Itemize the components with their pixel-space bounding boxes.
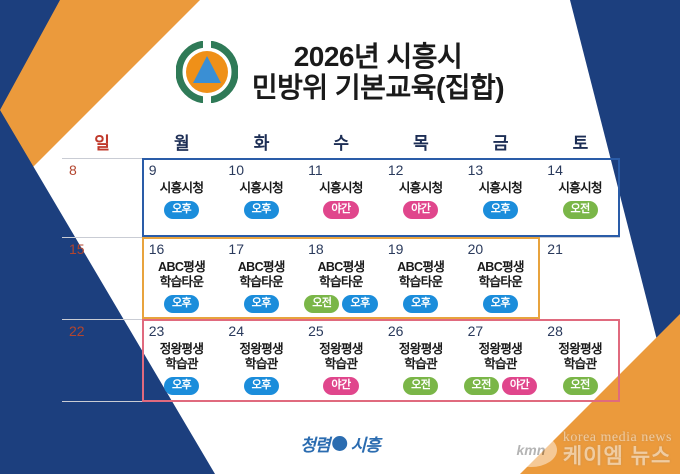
day-number: 14 — [547, 163, 563, 178]
brand-text-right: 시흥 — [351, 431, 380, 456]
day-number: 16 — [149, 242, 165, 257]
venue-label: ABC평생학습타운 — [158, 260, 205, 290]
day-number: 22 — [69, 324, 85, 339]
session-badge-pm: 오후 — [164, 295, 199, 313]
city-brand-logo: 청렴 시흥 — [300, 431, 380, 456]
calendar-week-row: 1516ABC평생학습타운오후17ABC평생학습타운오후18ABC평생학습타운오… — [62, 237, 620, 319]
day-number: 26 — [388, 324, 404, 339]
session-badge-night: 야간 — [502, 377, 537, 395]
venue-label: 시흥시청 — [558, 181, 602, 196]
poster-canvas: 2026년 시흥시 민방위 기본교육(집합) 일월화수목금토 89시흥시청오후1… — [0, 0, 680, 474]
calendar-week-row: 2223정왕평생학습관오후24정왕평생학습관오후25정왕평생학습관야간26정왕평… — [62, 319, 620, 402]
watermark-english: korea media news — [563, 431, 672, 446]
calendar-day-cell[interactable]: 27정왕평생학습관오전야간 — [461, 320, 541, 401]
education-calendar: 일월화수목금토 89시흥시청오후10시흥시청오후11시흥시청야간12시흥시청야간… — [62, 124, 620, 402]
day-number: 19 — [388, 242, 404, 257]
venue-label: 시흥시청 — [399, 181, 443, 196]
calendar-day-cell[interactable]: 25정왕평생학습관야간 — [301, 320, 381, 401]
calendar-day-cell[interactable]: 14시흥시청오전 — [540, 159, 620, 237]
session-badges: 오후 — [164, 295, 199, 313]
venue-label: ABC평생학습타운 — [317, 260, 364, 290]
calendar-day-cell[interactable]: 23정왕평생학습관오후 — [142, 320, 222, 401]
session-badges: 오후 — [483, 201, 518, 219]
calendar-day-cell[interactable]: 12시흥시청야간 — [381, 159, 461, 237]
calendar-day-cell[interactable]: 15 — [62, 238, 142, 319]
poster-header: 2026년 시흥시 민방위 기본교육(집합) — [0, 22, 680, 122]
day-of-week-3: 수 — [301, 129, 381, 154]
venue-label: 정왕평생학습관 — [239, 342, 283, 372]
session-badges: 오전야간 — [464, 377, 538, 395]
venue-label: 시흥시청 — [479, 181, 523, 196]
session-badge-night: 야간 — [403, 201, 438, 219]
session-badges: 오후 — [164, 201, 199, 219]
watermark: kmn korea media news 케이엠 뉴스 — [505, 431, 672, 468]
session-badges: 오전 — [403, 377, 438, 395]
venue-label: ABC평생학습타운 — [477, 260, 524, 290]
session-badges: 오후 — [244, 201, 279, 219]
venue-label: 정왕평생학습관 — [479, 342, 523, 372]
session-badges: 오전 — [563, 377, 598, 395]
calendar-day-cell[interactable]: 9시흥시청오후 — [142, 159, 222, 237]
day-of-week-6: 토 — [540, 129, 620, 154]
watermark-korean: 케이엠 뉴스 — [563, 446, 672, 468]
session-badge-am: 오전 — [304, 295, 339, 313]
calendar-day-cell[interactable]: 20ABC평생학습타운오후 — [461, 238, 541, 319]
session-badge-pm: 오후 — [244, 201, 279, 219]
watermark-text: korea media news 케이엠 뉴스 — [563, 431, 672, 468]
day-of-week-header: 일월화수목금토 — [62, 124, 620, 158]
session-badges: 오전오후 — [304, 295, 378, 313]
venue-label: 정왕평생학습관 — [399, 342, 443, 372]
title-line-2: 민방위 기본교육(집합) — [252, 72, 504, 103]
day-number: 18 — [308, 242, 324, 257]
calendar-day-cell[interactable]: 19ABC평생학습타운오후 — [381, 238, 461, 319]
calendar-day-cell[interactable]: 11시흥시청야간 — [301, 159, 381, 237]
day-of-week-4: 목 — [381, 129, 461, 154]
day-of-week-2: 화 — [221, 129, 301, 154]
venue-label: 정왕평생학습관 — [558, 342, 602, 372]
session-badge-am: 오전 — [464, 377, 499, 395]
day-number: 17 — [228, 242, 244, 257]
session-badge-am: 오전 — [403, 377, 438, 395]
page-title: 2026년 시흥시 민방위 기본교육(집합) — [252, 41, 504, 104]
session-badge-pm: 오후 — [403, 295, 438, 313]
venue-label: 정왕평생학습관 — [319, 342, 363, 372]
calendar-day-cell[interactable]: 22 — [62, 320, 142, 401]
calendar-day-cell[interactable]: 21 — [540, 238, 620, 319]
day-number: 12 — [388, 163, 404, 178]
session-badge-pm: 오후 — [483, 295, 518, 313]
day-number: 13 — [468, 163, 484, 178]
day-number: 23 — [149, 324, 165, 339]
day-number: 28 — [547, 324, 563, 339]
calendar-day-cell[interactable]: 24정왕평생학습관오후 — [221, 320, 301, 401]
day-number: 21 — [547, 242, 563, 257]
day-of-week-5: 금 — [461, 129, 541, 154]
day-of-week-0: 일 — [62, 129, 142, 154]
calendar-day-cell[interactable]: 13시흥시청오후 — [461, 159, 541, 237]
brand-dot-icon — [333, 436, 348, 451]
day-number: 10 — [228, 163, 244, 178]
session-badge-pm: 오후 — [483, 201, 518, 219]
calendar-day-cell[interactable]: 18ABC평생학습타운오전오후 — [301, 238, 381, 319]
day-number: 11 — [308, 163, 323, 178]
session-badges: 야간 — [323, 377, 358, 395]
session-badges: 오전 — [563, 201, 598, 219]
session-badges: 야간 — [403, 201, 438, 219]
session-badge-night: 야간 — [323, 201, 358, 219]
session-badge-pm: 오후 — [164, 377, 199, 395]
session-badges: 오후 — [483, 295, 518, 313]
session-badge-pm: 오후 — [342, 295, 377, 313]
calendar-week-row: 89시흥시청오후10시흥시청오후11시흥시청야간12시흥시청야간13시흥시청오후… — [62, 158, 620, 237]
session-badge-pm: 오후 — [244, 295, 279, 313]
calendar-day-cell[interactable]: 26정왕평생학습관오전 — [381, 320, 461, 401]
day-number: 25 — [308, 324, 324, 339]
brand-text-left: 청렴 — [300, 431, 329, 456]
session-badge-am: 오전 — [563, 377, 598, 395]
calendar-day-cell[interactable]: 8 — [62, 159, 142, 237]
venue-label: 시흥시청 — [160, 181, 204, 196]
session-badge-night: 야간 — [323, 377, 358, 395]
calendar-weeks: 89시흥시청오후10시흥시청오후11시흥시청야간12시흥시청야간13시흥시청오후… — [62, 158, 620, 402]
venue-label: 정왕평생학습관 — [160, 342, 204, 372]
day-of-week-1: 월 — [142, 129, 222, 154]
calendar-day-cell[interactable]: 16ABC평생학습타운오후 — [142, 238, 222, 319]
venue-label: ABC평생학습타운 — [397, 260, 444, 290]
session-badges: 오후 — [244, 295, 279, 313]
day-number: 8 — [69, 163, 77, 178]
day-number: 9 — [149, 163, 157, 178]
session-badge-pm: 오후 — [164, 201, 199, 219]
calendar-day-cell[interactable]: 17ABC평생학습타운오후 — [221, 238, 301, 319]
venue-label: ABC평생학습타운 — [238, 260, 285, 290]
venue-label: 시흥시청 — [239, 181, 283, 196]
session-badges: 오후 — [244, 377, 279, 395]
watermark-logo-icon: kmn — [505, 433, 557, 467]
session-badge-am: 오전 — [563, 201, 598, 219]
session-badges: 오후 — [164, 377, 199, 395]
title-line-1: 2026년 시흥시 — [252, 41, 504, 72]
session-badge-pm: 오후 — [244, 377, 279, 395]
day-number: 27 — [468, 324, 484, 339]
civil-defense-logo — [176, 41, 238, 103]
day-number: 20 — [468, 242, 484, 257]
session-badges: 야간 — [323, 201, 358, 219]
venue-label: 시흥시청 — [319, 181, 363, 196]
calendar-day-cell[interactable]: 28정왕평생학습관오전 — [540, 320, 620, 401]
day-number: 15 — [69, 242, 85, 257]
day-number: 24 — [228, 324, 244, 339]
calendar-day-cell[interactable]: 10시흥시청오후 — [221, 159, 301, 237]
session-badges: 오후 — [403, 295, 438, 313]
